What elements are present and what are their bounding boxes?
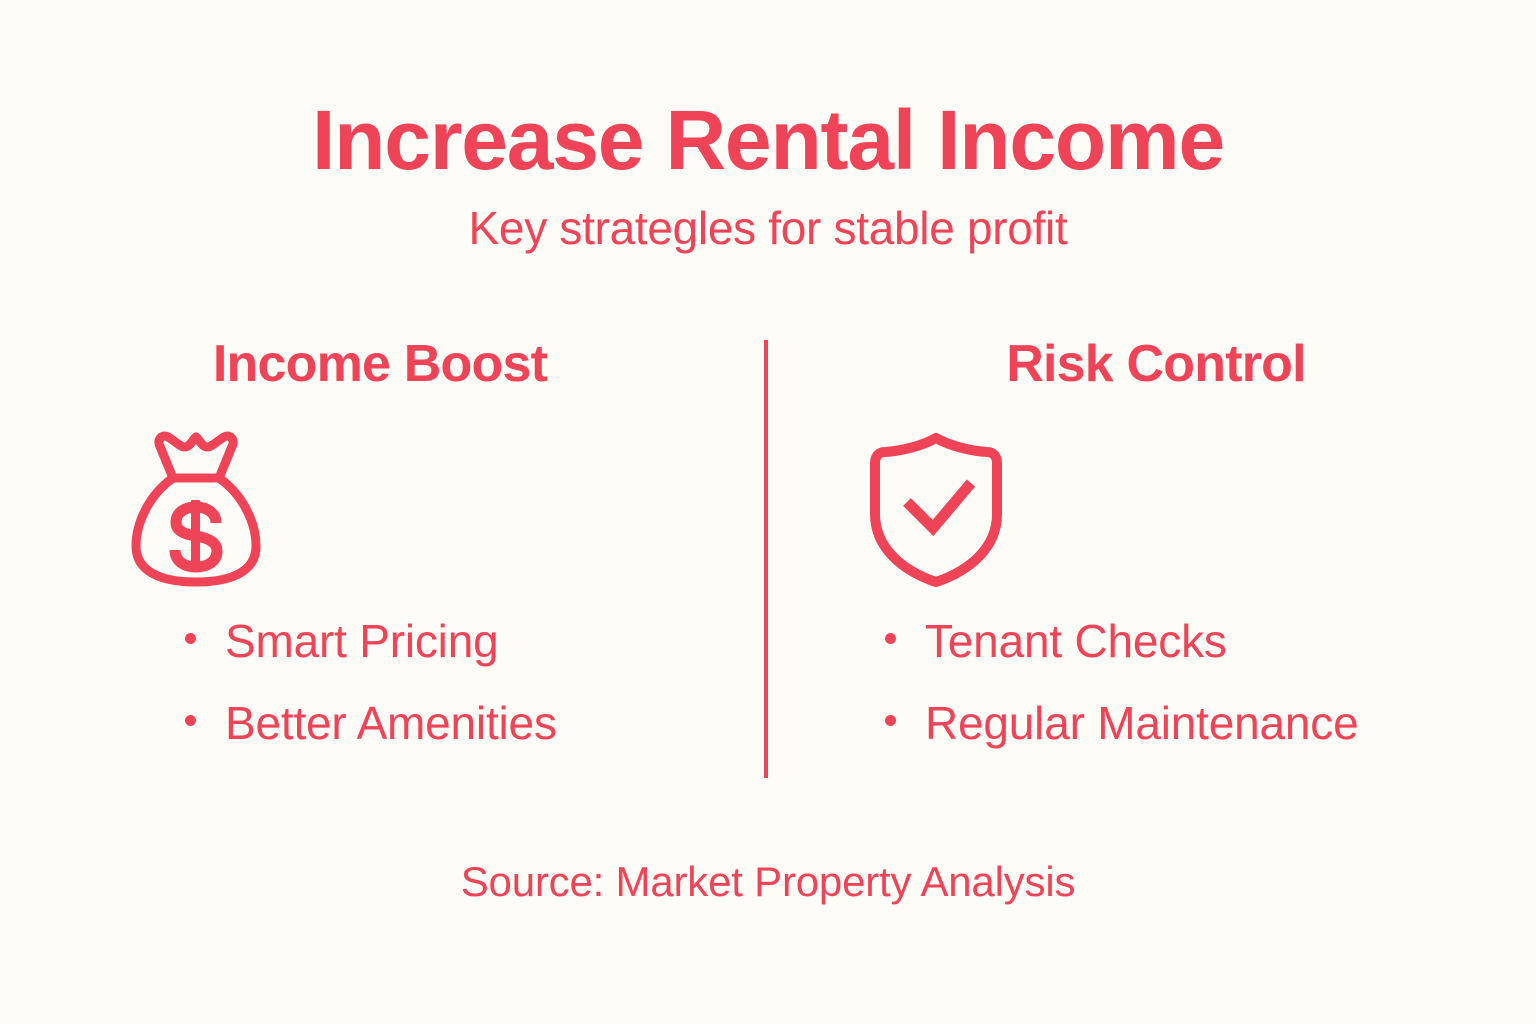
list-item-label: Tenant Checks bbox=[925, 618, 1227, 664]
columns-container: Income Boost Smart Pricing bbox=[0, 330, 1536, 790]
source-label: Source: Market Property Analysis bbox=[0, 858, 1536, 906]
bullet-dot-icon bbox=[885, 715, 896, 726]
money-bag-icon bbox=[0, 430, 760, 590]
bullet-dot-icon bbox=[885, 633, 896, 644]
list-item-label: Smart Pricing bbox=[225, 618, 498, 664]
list-item-label: Regular Maintenance bbox=[925, 700, 1358, 746]
column-income-boost: Income Boost Smart Pricing bbox=[0, 330, 760, 790]
page-title: Increase Rental Income bbox=[0, 96, 1536, 184]
list-item: Regular Maintenance bbox=[885, 700, 1358, 746]
footer: Source: Market Property Analysis bbox=[0, 858, 1536, 906]
bullet-list-risk-control: Tenant Checks Regular Maintenance bbox=[885, 618, 1358, 746]
bullet-dot-icon bbox=[185, 633, 196, 644]
column-risk-control: Risk Control Tenant Checks Regular Maint… bbox=[776, 330, 1536, 790]
list-item: Smart Pricing bbox=[185, 618, 557, 664]
page-subtitle: Key strategles for stable profit bbox=[0, 202, 1536, 255]
bullet-dot-icon bbox=[185, 715, 196, 726]
list-item: Tenant Checks bbox=[885, 618, 1358, 664]
list-item-label: Better Amenities bbox=[225, 700, 557, 746]
infographic-canvas: Increase Rental Income Key strategles fo… bbox=[0, 0, 1536, 1024]
column-heading-income-boost: Income Boost bbox=[0, 336, 760, 393]
column-divider bbox=[764, 340, 768, 778]
bullet-list-income-boost: Smart Pricing Better Amenities bbox=[185, 618, 557, 746]
shield-check-icon bbox=[776, 430, 1536, 588]
list-item: Better Amenities bbox=[185, 700, 557, 746]
column-heading-risk-control: Risk Control bbox=[776, 336, 1536, 393]
header: Increase Rental Income Key strategles fo… bbox=[0, 96, 1536, 255]
